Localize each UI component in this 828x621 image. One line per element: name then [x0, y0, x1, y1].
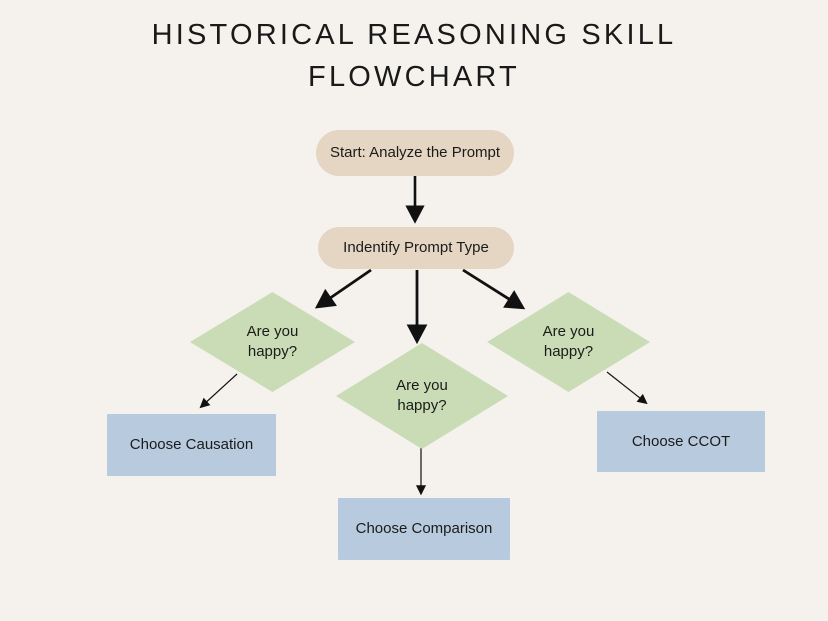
- node-identify-label: Indentify Prompt Type: [343, 238, 489, 258]
- node-choose-comparison-label: Choose Comparison: [356, 519, 493, 539]
- node-decision-right[interactable]: Are you happy?: [487, 292, 650, 392]
- node-decision-center-label: Are you happy?: [336, 343, 508, 449]
- node-choose-ccot[interactable]: Choose CCOT: [597, 411, 765, 472]
- node-identify-prompt-type[interactable]: Indentify Prompt Type: [318, 227, 514, 269]
- node-decision-right-label: Are you happy?: [487, 292, 650, 392]
- page-title: HISTORICAL REASONING SKILL FLOWCHART: [0, 14, 828, 98]
- flowchart-canvas: HISTORICAL REASONING SKILL FLOWCHART Sta…: [0, 0, 828, 621]
- node-choose-causation-label: Choose Causation: [130, 435, 253, 455]
- node-choose-ccot-label: Choose CCOT: [632, 432, 730, 452]
- node-decision-left-label: Are you happy?: [190, 292, 355, 392]
- node-choose-comparison[interactable]: Choose Comparison: [338, 498, 510, 560]
- node-decision-left[interactable]: Are you happy?: [190, 292, 355, 392]
- node-start-label: Start: Analyze the Prompt: [330, 143, 500, 163]
- node-start[interactable]: Start: Analyze the Prompt: [316, 130, 514, 176]
- node-decision-center[interactable]: Are you happy?: [336, 343, 508, 449]
- node-choose-causation[interactable]: Choose Causation: [107, 414, 276, 476]
